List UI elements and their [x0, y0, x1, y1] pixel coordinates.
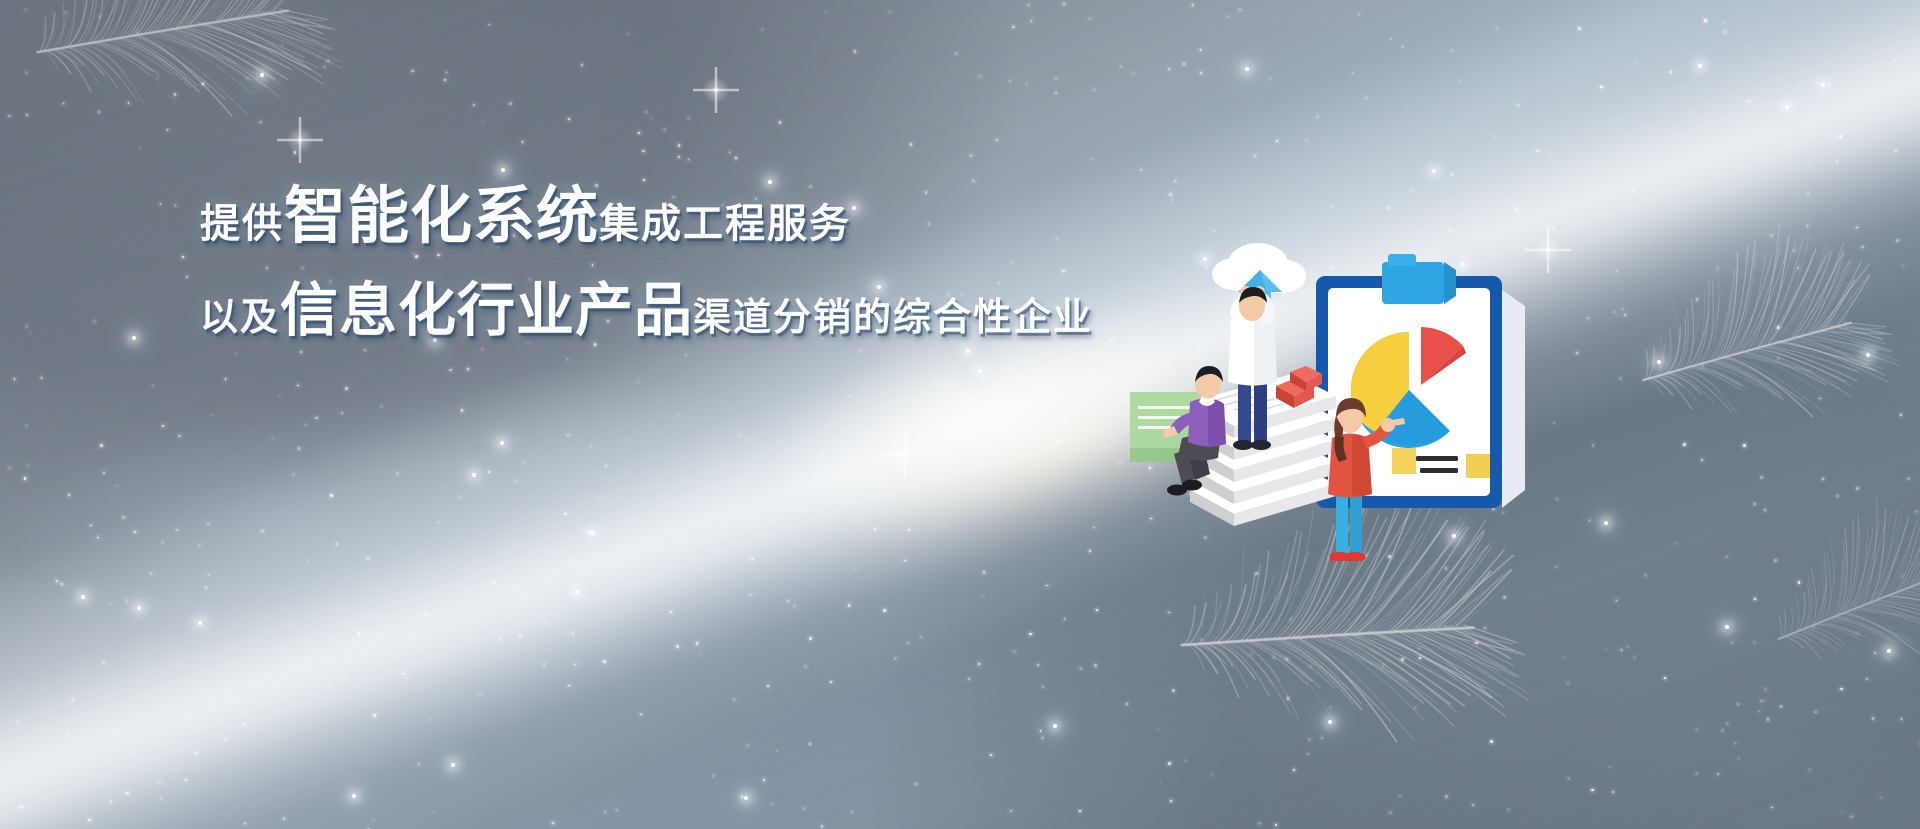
headline-block: 提供智能化系统集成工程服务 以及信息化行业产品渠道分销的综合性企业 [200, 186, 1200, 340]
headline-line-2: 以及信息化行业产品渠道分销的综合性企业 [200, 282, 1200, 340]
headline-line2-emphasis: 信息化行业产品 [280, 282, 693, 340]
headline-line1-lead: 提供 [200, 204, 284, 244]
sticky-note-icon [1466, 454, 1490, 478]
headline-line-1: 提供智能化系统集成工程服务 [200, 186, 1200, 248]
headline-line1-tail: 集成工程服务 [599, 204, 851, 244]
headline-line1-emphasis: 智能化系统 [284, 186, 599, 248]
sticky-note-2-icon [1392, 448, 1416, 474]
headline-line2-tail: 渠道分销的综合性企业 [693, 299, 1093, 337]
business-data-analytics-illustration [1130, 240, 1550, 580]
starfield [0, 0, 1920, 829]
headline-line2-lead: 以及 [200, 299, 280, 337]
hero-banner: 提供智能化系统集成工程服务 以及信息化行业产品渠道分销的综合性企业 [0, 0, 1920, 829]
